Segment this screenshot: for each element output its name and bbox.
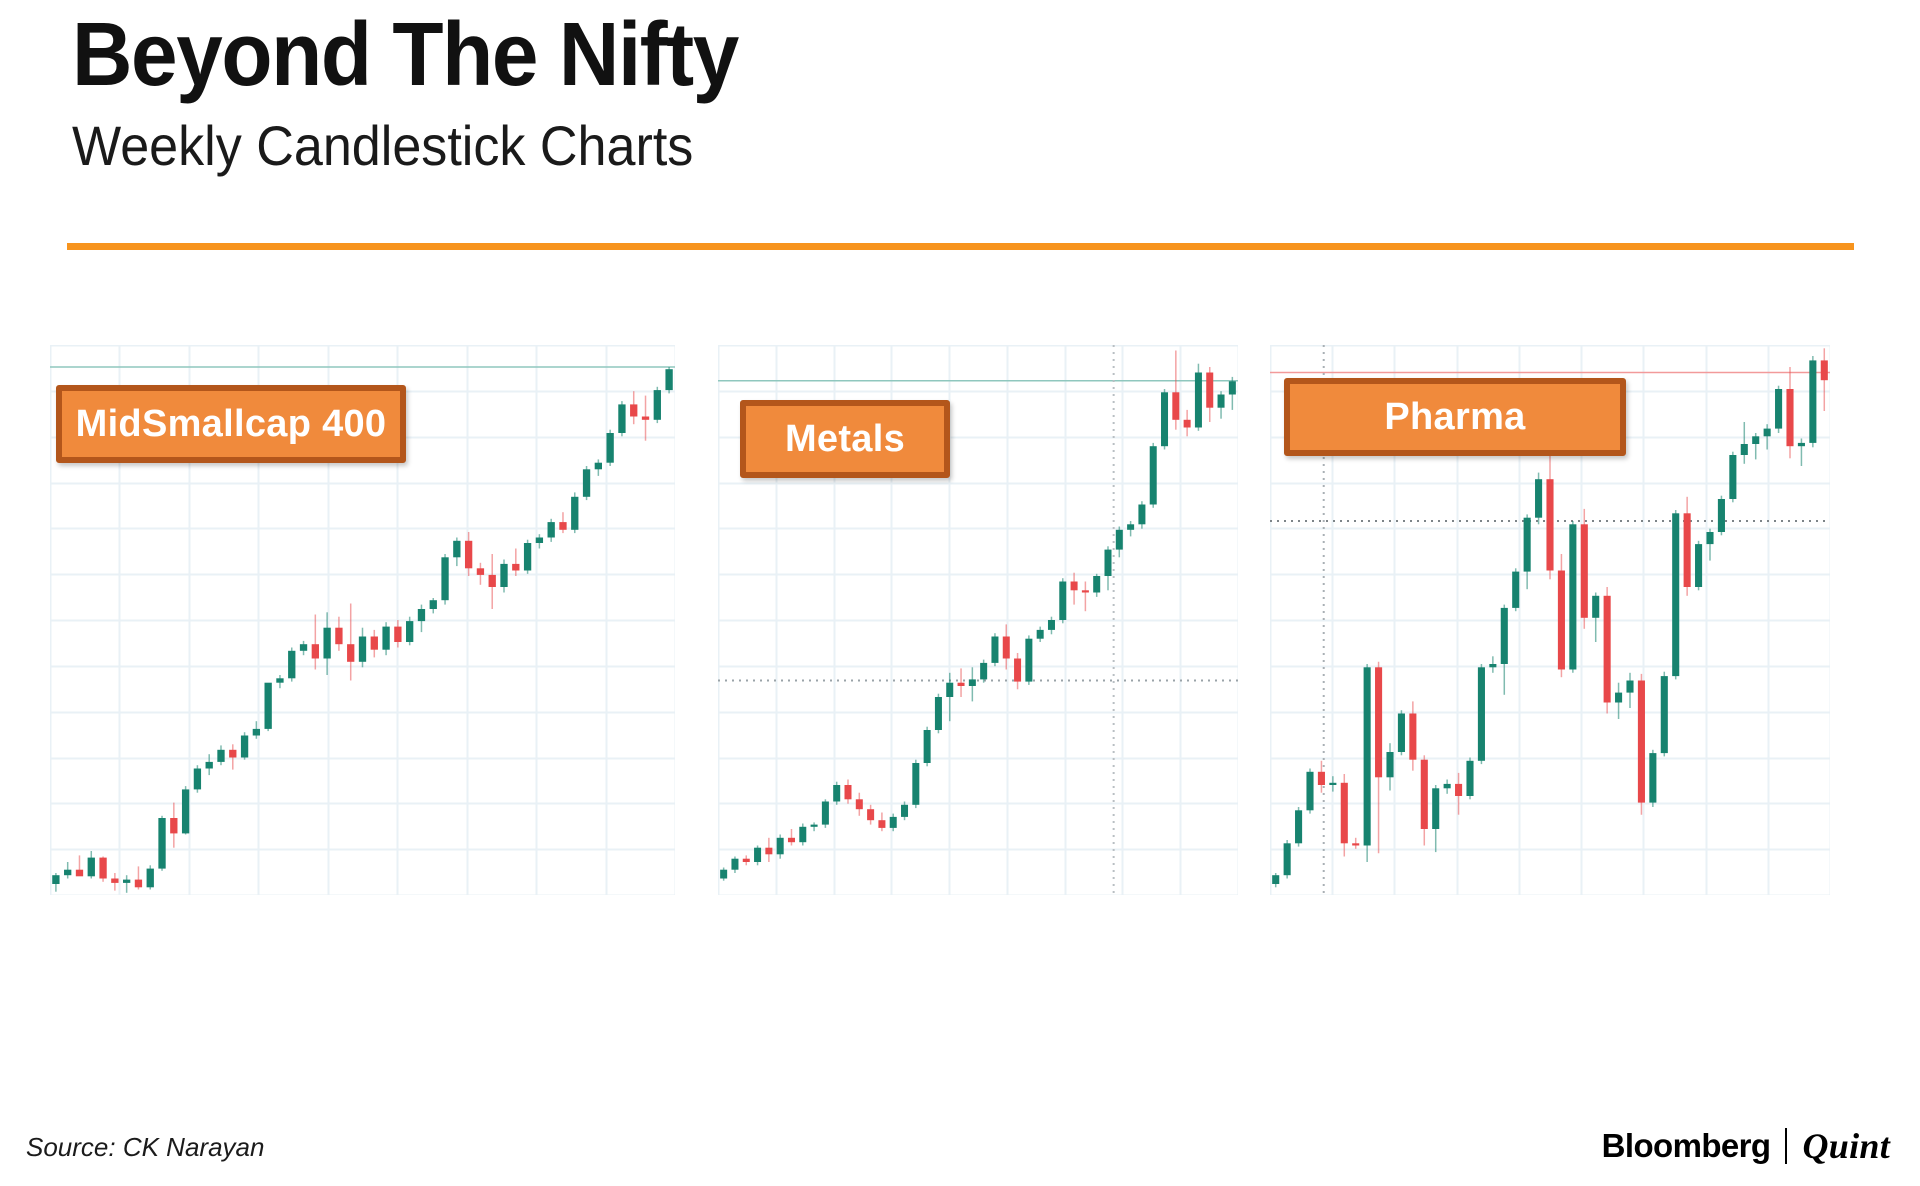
candle-body [1184, 420, 1191, 428]
candle-body [217, 750, 224, 762]
candle-body [1364, 667, 1371, 845]
candle-body [901, 805, 908, 817]
candle-body [890, 817, 897, 828]
candle-body [371, 637, 378, 650]
candle-body [1626, 681, 1633, 693]
candle-body [1569, 524, 1576, 669]
candle-body [1478, 667, 1485, 761]
candle-body [969, 679, 976, 686]
candle-body [1809, 360, 1816, 443]
candle-body [980, 663, 987, 680]
candle-body [1501, 608, 1508, 664]
candle-body [765, 848, 772, 855]
candle-body [1546, 479, 1553, 570]
candle-body [1229, 381, 1236, 394]
candle-body [241, 736, 248, 758]
candle-body [1037, 630, 1044, 639]
candle-body [1592, 596, 1599, 618]
candle-body [1684, 513, 1691, 587]
candle-body [878, 820, 885, 828]
candle-body [1295, 810, 1302, 843]
candle-body [811, 825, 818, 827]
candle-body [571, 497, 578, 530]
candle-body [1272, 875, 1279, 884]
candle-body [453, 541, 460, 558]
candle-body [1752, 436, 1759, 444]
candle-body [489, 575, 496, 587]
candle-body [1048, 620, 1055, 630]
candle-body [1352, 843, 1359, 845]
page-subtitle: Weekly Candlestick Charts [72, 118, 693, 174]
candle-body [229, 750, 236, 758]
candle-body [822, 802, 829, 825]
candle-body [754, 848, 761, 862]
candle-body [1615, 693, 1622, 703]
candle-body [720, 870, 727, 879]
candle-body [347, 644, 354, 662]
candle-body [52, 875, 59, 884]
candle-body [359, 637, 366, 662]
candle-body [512, 564, 519, 571]
candle-body [123, 880, 130, 883]
candle-body [430, 600, 437, 609]
candle-body [1581, 524, 1588, 618]
candle-body [1150, 446, 1157, 504]
candle-body [194, 769, 201, 790]
candle-body [99, 858, 106, 879]
candle-body [64, 870, 71, 876]
candle-body [731, 859, 738, 870]
candle-body [912, 763, 919, 805]
candle-body [1014, 659, 1021, 682]
candle-body [1386, 752, 1393, 777]
candle-body [206, 762, 213, 769]
candle-body [1104, 550, 1111, 576]
candle-body [743, 859, 750, 862]
candle-body [1432, 788, 1439, 829]
candle-body [1775, 389, 1782, 429]
candle-body [1729, 455, 1736, 499]
candle-body [583, 469, 590, 497]
page-title: Beyond The Nifty [72, 10, 738, 100]
candle-body [147, 869, 154, 888]
candle-body [946, 683, 953, 697]
candle-body [1558, 571, 1565, 670]
title-divider-rule [67, 243, 1854, 250]
candle-body [253, 729, 260, 736]
candle-body [935, 697, 942, 730]
candle-body [844, 785, 851, 799]
candle-body [1206, 373, 1213, 408]
candle-body [1672, 513, 1679, 676]
brand-divider [1785, 1128, 1787, 1164]
candle-body [312, 644, 319, 658]
candle-body [1512, 572, 1519, 608]
candle-body [418, 609, 425, 621]
candle-body [500, 564, 507, 587]
candle-body [1489, 664, 1496, 667]
candle-body [1138, 505, 1145, 525]
candle-body [135, 880, 142, 888]
candle-body [276, 678, 283, 682]
candle-body [1718, 499, 1725, 532]
candle-body [88, 858, 95, 877]
candle-body [170, 818, 177, 833]
candle-body [1071, 582, 1078, 591]
candle-body [856, 799, 863, 809]
candle-body [406, 621, 413, 642]
candle-body [1444, 784, 1451, 788]
candle-body [265, 683, 272, 729]
candle-body [1003, 637, 1010, 659]
candle-body [1821, 360, 1828, 380]
candle-body [1082, 590, 1089, 592]
candle-body [833, 785, 840, 802]
candle-body [1195, 373, 1202, 428]
candle-body [394, 627, 401, 642]
candle-body [1025, 639, 1032, 682]
candle-body [1638, 681, 1645, 803]
candle-body [1786, 389, 1793, 446]
candle-body [618, 404, 625, 433]
candle-body [382, 627, 389, 650]
chart-label-pharma: Pharma [1284, 378, 1626, 456]
candle-body [630, 404, 637, 416]
candle-body [559, 522, 566, 530]
candle-body [867, 809, 874, 820]
candle-body [1116, 530, 1123, 550]
candle-body [1706, 532, 1713, 544]
candle-body [777, 838, 784, 855]
candle-body [1306, 772, 1313, 811]
candle-body [1161, 392, 1168, 446]
candle-body [1661, 676, 1668, 753]
candle-body [924, 730, 931, 763]
candle-body [1375, 667, 1382, 777]
candle-body [465, 541, 472, 569]
candle-body [1695, 544, 1702, 587]
brand-quint-text: Quint [1802, 1125, 1890, 1167]
candle-body [1524, 518, 1531, 572]
brand-logo: Bloomberg Quint [1602, 1126, 1890, 1166]
candle-body [1284, 843, 1291, 875]
candle-body [788, 838, 795, 842]
candle-body [536, 538, 543, 544]
chart-label-metals: Metals [740, 400, 950, 478]
candle-body [1409, 714, 1416, 760]
candle-body [1764, 429, 1771, 437]
candle-body [300, 644, 307, 651]
candle-body [958, 683, 965, 686]
candle-body [665, 369, 672, 390]
candle-body [1466, 761, 1473, 796]
candle-body [1341, 783, 1348, 844]
candle-body [548, 522, 555, 537]
candle-body [477, 568, 484, 575]
candle-body [799, 827, 806, 842]
candle-body [606, 433, 613, 463]
candle-body [991, 637, 998, 663]
candle-body [182, 789, 189, 833]
candle-body [288, 651, 295, 679]
candle-body [1318, 772, 1325, 785]
chart-label-midsmallcap: MidSmallcap 400 [56, 385, 406, 463]
candle-body [1741, 444, 1748, 455]
candle-body [1604, 596, 1611, 703]
candle-body [1172, 392, 1179, 420]
candle-body [1421, 760, 1428, 829]
candle-body [1535, 479, 1542, 518]
candle-body [1127, 524, 1134, 530]
source-note: Source: CK Narayan [26, 1132, 264, 1163]
candle-body [1329, 783, 1336, 785]
candle-body [1093, 576, 1100, 593]
candle-body [158, 818, 165, 869]
candle-body [1218, 395, 1225, 408]
candle-body [654, 390, 661, 420]
candle-body [642, 417, 649, 420]
candle-body [524, 543, 531, 571]
candle-body [323, 628, 330, 659]
candle-body [595, 463, 602, 470]
brand-bloomberg-text: Bloomberg [1602, 1127, 1771, 1165]
candle-body [1455, 784, 1462, 796]
candle-body [441, 557, 448, 600]
candle-body [335, 628, 342, 645]
candle-body [1398, 714, 1405, 753]
candle-body [111, 879, 118, 883]
candle-body [1059, 582, 1066, 621]
candle-body [1649, 753, 1656, 803]
candle-body [76, 870, 83, 877]
header: Beyond The Nifty Weekly Candlestick Char… [0, 0, 1920, 258]
candle-body [1798, 443, 1805, 446]
